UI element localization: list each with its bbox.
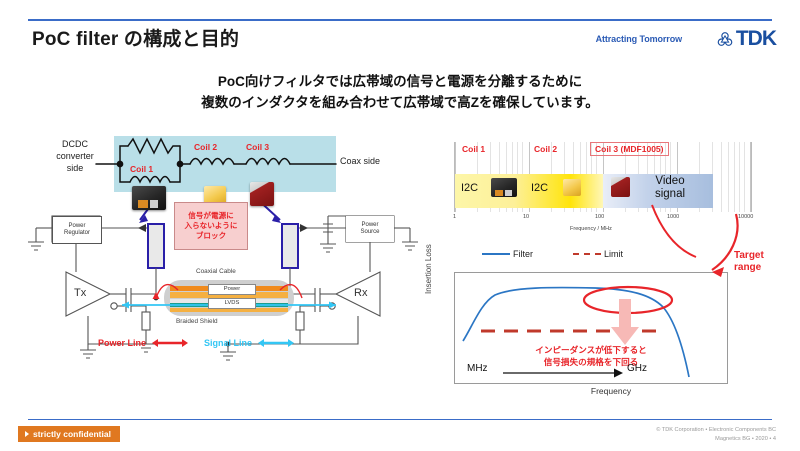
power-regulator-line-2: Regulator [64, 230, 90, 237]
coax-side-label: Coax side [340, 156, 380, 166]
tdk-trefoil-icon [716, 30, 734, 48]
freq-coil3-tag: Coil 3 (MDF1005) [590, 142, 669, 156]
impedance-note: インピーダンスが低下すると 信号損失の規格を下回る [465, 345, 717, 368]
subtitle-line-2: 複数のインダクタを組み合わせて広帯域で高Zを確保しています。 [0, 93, 800, 114]
tdk-logo: TDK [716, 28, 776, 49]
subtitle-line-1: PoC向けフィルタでは広帯域の信号と電源を分離するために [0, 72, 800, 93]
slide: PoC filter の構成と目的 Attracting Tomorrow TD… [0, 0, 800, 451]
power-regulator-line-1: Power [68, 223, 85, 230]
rx-label: Rx [354, 287, 367, 299]
confidential-badge: strictly confidential [18, 426, 120, 442]
video-band-to-chart-connector [648, 205, 768, 295]
confidential-label: strictly confidential [33, 429, 111, 439]
coaxial-cable-label: Coaxial Cable [196, 268, 236, 275]
tx-label: Tx [74, 287, 86, 299]
power-source-box: Power Source [346, 216, 394, 242]
coil3-component-photo [250, 182, 274, 206]
power-source-line-1: Power [361, 222, 378, 229]
signal-line-label: Signal Line [204, 338, 252, 348]
freq-coil2-tag: Coil 2 [534, 144, 557, 154]
freq-tick-100: 100 [595, 214, 604, 220]
callout-line-1: 信号が電源に [188, 211, 234, 221]
freq-tick-1: 1 [453, 214, 456, 220]
copyright-notice: © TDK Corporation • Electronic Component… [656, 426, 776, 443]
coil1-label: Coil 1 [130, 164, 153, 174]
coil1-thumbnail [491, 178, 517, 197]
impedance-note-line-1: インピーダンスが低下すると [465, 345, 717, 357]
tdk-wordmark: TDK [736, 28, 776, 49]
block-callout: 信号が電源に 入らないように ブロック [174, 202, 248, 250]
legend-swatch-filter [482, 253, 510, 256]
power-line-label: Power Line [98, 338, 146, 348]
power-source-line-2: Source [360, 229, 379, 236]
copyright-line-2: Magnetics BG • 2020 • 4 [656, 435, 776, 443]
dcdc-converter-side-label: DCDC converter side [40, 138, 110, 174]
freq-tick-10: 10 [523, 214, 529, 220]
legend-swatch-limit [573, 253, 601, 255]
callout-line-2: 入らないように [184, 221, 237, 231]
band-label-video-signal: Videosignal [641, 175, 699, 201]
power-regulator-box: Power Regulator [52, 216, 102, 244]
legend-item-limit: Limit [573, 249, 623, 259]
coil1-component-photo [132, 186, 166, 210]
coil2-label: Coil 2 [194, 142, 217, 152]
braided-shield-label: Braided Shield [176, 318, 218, 325]
power-line-arrow-icon [152, 338, 188, 348]
freq-coil1-tag: Coil 1 [462, 144, 485, 154]
legend-item-filter: Filter [482, 249, 533, 259]
band-label-i2c-1: I2C [461, 182, 478, 194]
circuit-diagram: Coil 1 Coil 2 Coil 3 DCDC converter side… [18, 120, 428, 370]
axis-low-label: MHz [467, 363, 488, 374]
lvds-core-label: LVDS [208, 298, 256, 309]
insertion-loss-x-axis-label: Frequency [436, 386, 786, 396]
dcdc-line-3: side [40, 162, 110, 174]
coil3-thumbnail [611, 177, 630, 197]
subtitle: PoC向けフィルタでは広帯域の信号と電源を分離するために 複数のインダクタを組み… [0, 72, 800, 114]
header-divider [28, 19, 772, 21]
axis-high-label: GHz [627, 363, 647, 374]
copyright-line-1: © TDK Corporation • Electronic Component… [656, 426, 776, 434]
triangle-marker-icon [25, 431, 29, 437]
legend-label-filter: Filter [513, 249, 533, 259]
callout-line-3: ブロック [196, 231, 226, 241]
insertion-loss-y-axis-label: Insertion Loss [424, 244, 433, 294]
freq-axis-title: Frequency / MHz [570, 226, 612, 232]
band-label-i2c-2: I2C [531, 182, 548, 194]
footer-divider [28, 419, 772, 421]
impedance-drop-arrow-icon [609, 299, 641, 347]
power-core-label: Power [208, 284, 256, 295]
dcdc-line-2: converter [40, 150, 110, 162]
page-title: PoC filter の構成と目的 [32, 24, 239, 51]
coil2-thumbnail [563, 179, 581, 196]
line-type-legend: Power Line Signal Line [98, 338, 348, 348]
dcdc-line-1: DCDC [40, 138, 110, 150]
signal-line-arrow-icon [258, 338, 294, 348]
legend-label-limit: Limit [604, 249, 623, 259]
coil3-label: Coil 3 [246, 142, 269, 152]
brand-tagline: Attracting Tomorrow [596, 34, 682, 44]
impedance-note-line-2: 信号損失の規格を下回る [465, 357, 717, 369]
frequency-direction-arrow-icon [503, 368, 623, 378]
